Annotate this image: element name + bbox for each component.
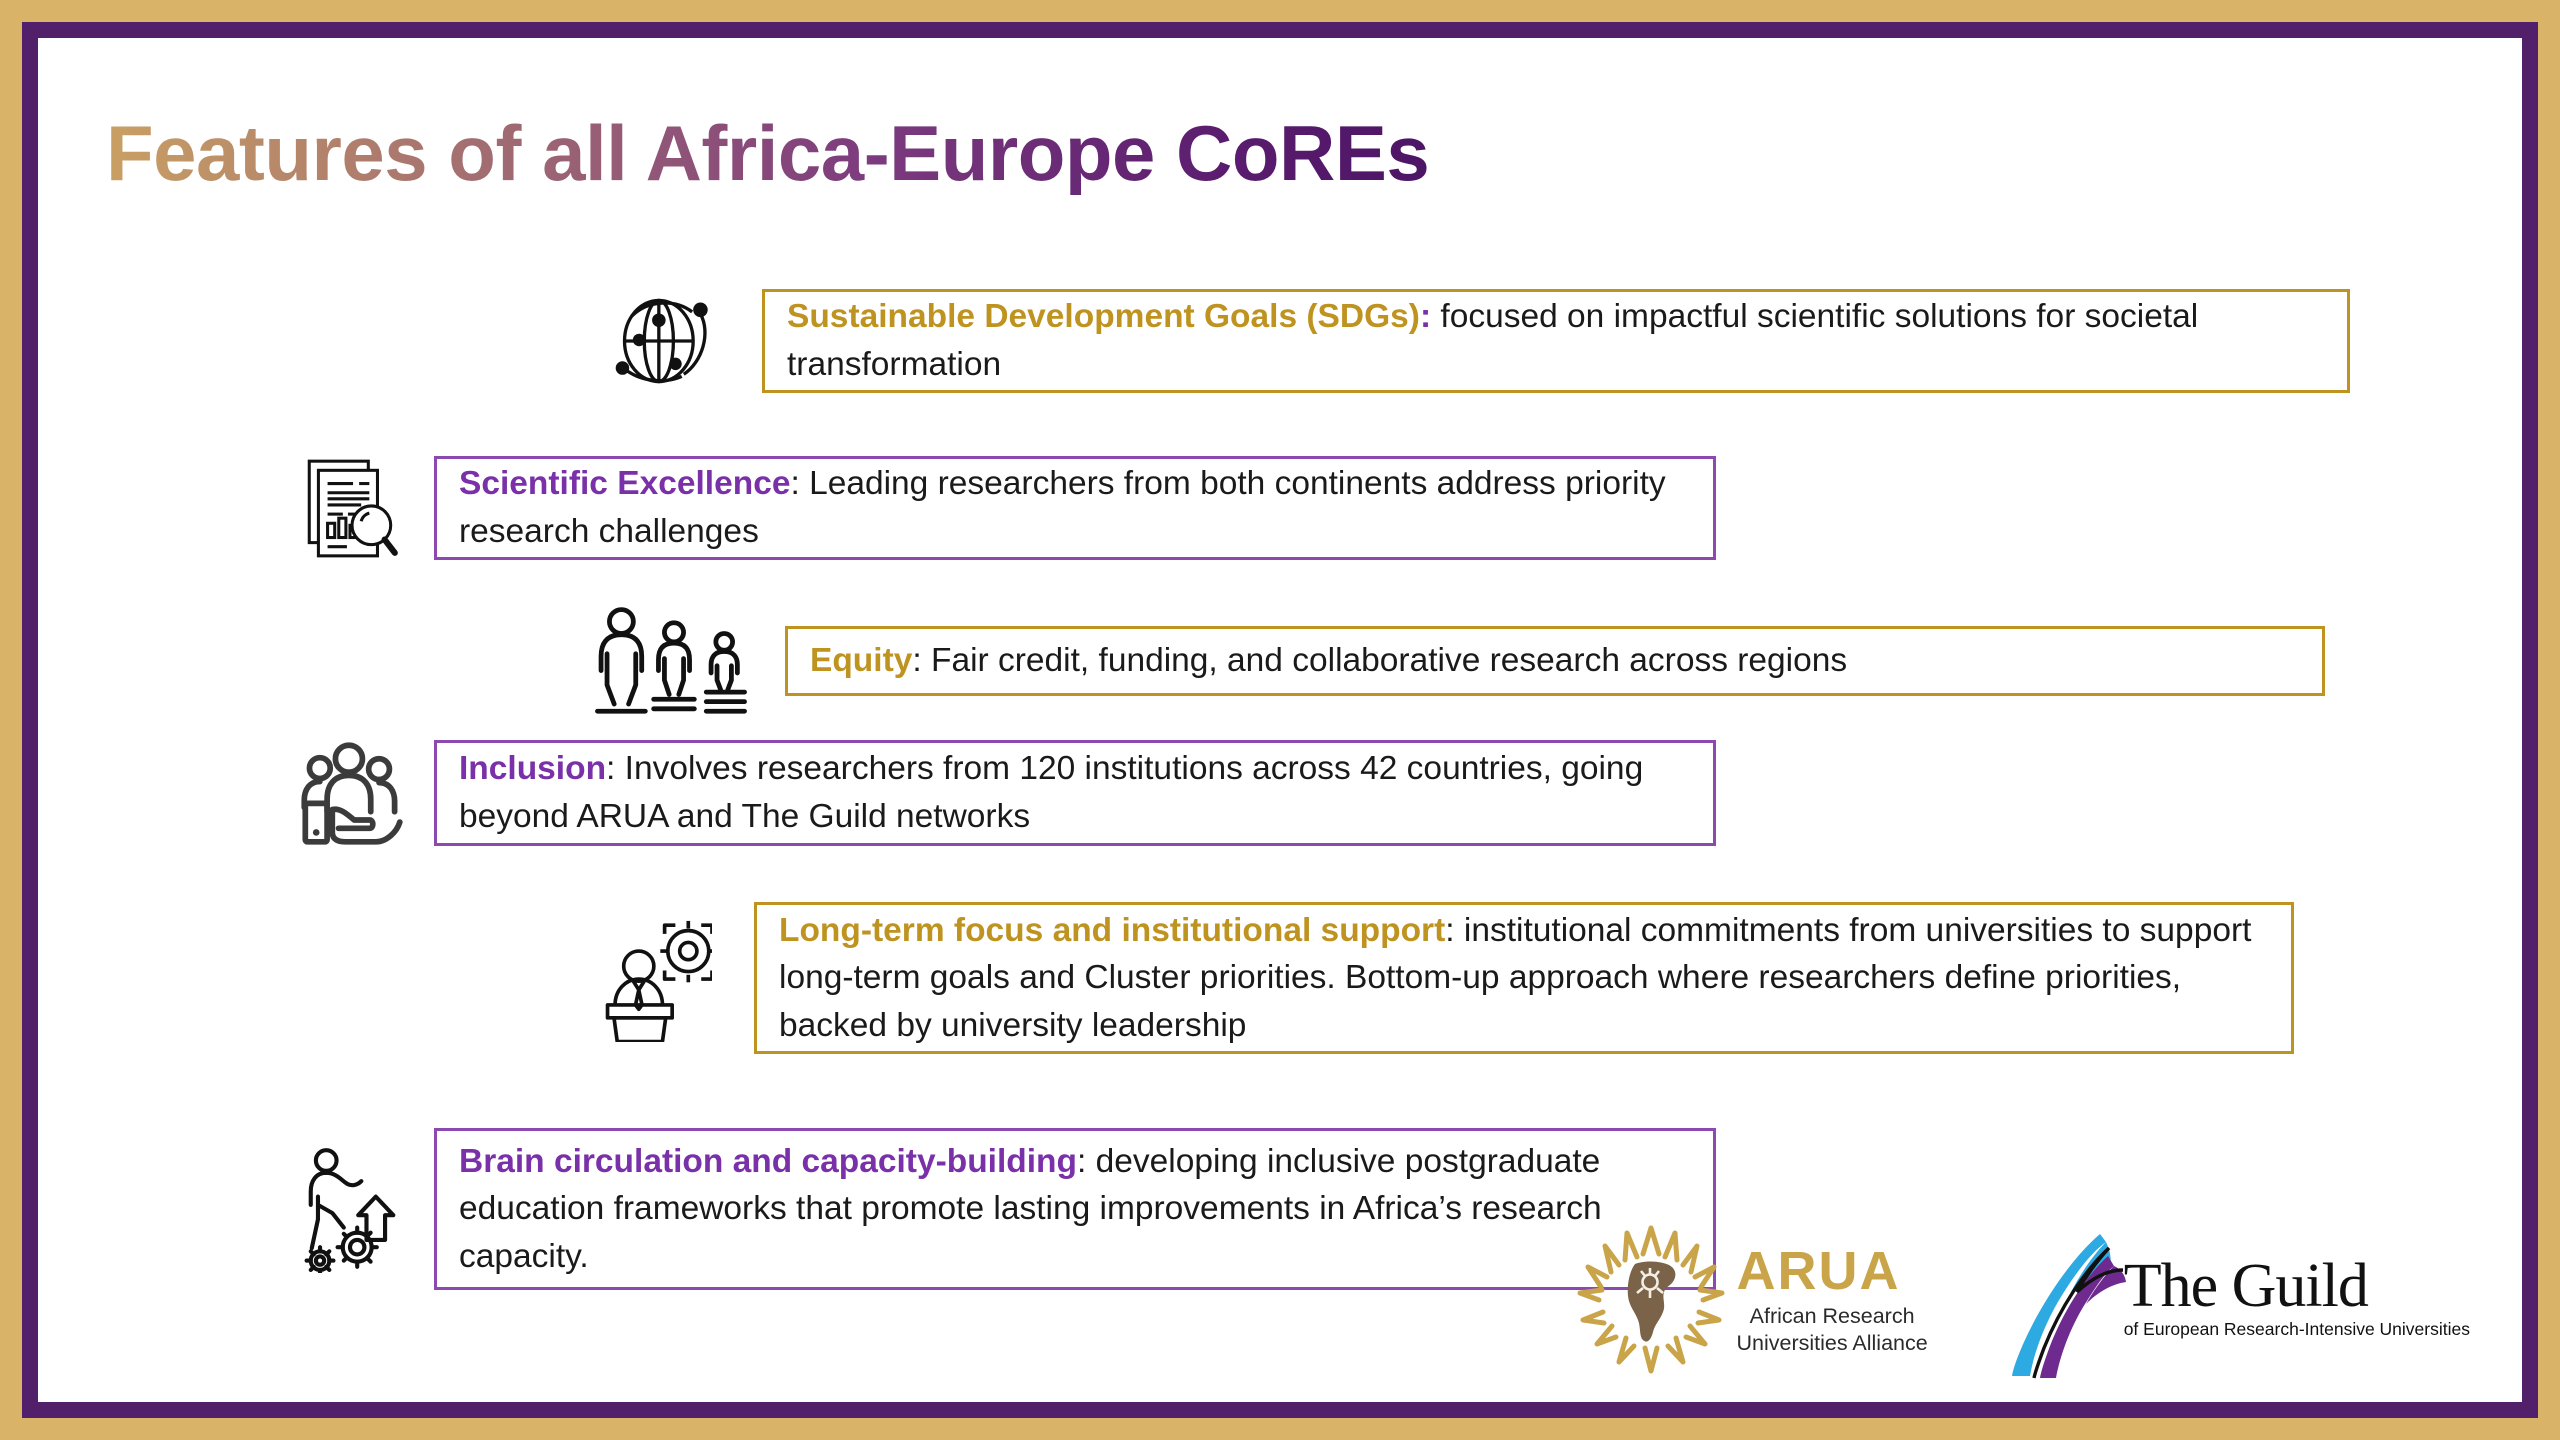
feature-row-long-term-focus: Long-term focus and institutional suppor… (586, 898, 2346, 1058)
feature-text-inclusion: Inclusion: Involves researchers from 120… (459, 745, 1691, 840)
feature-box-scientific-excellence: Scientific Excellence: Leading researche… (434, 456, 1716, 560)
slide-outer-frame: Features of all Africa-Europe CoREs (0, 0, 2560, 1440)
feature-box-brain-circulation: Brain circulation and capacity-building:… (434, 1128, 1716, 1290)
page-title: Features of all Africa-Europe CoREs (106, 113, 1429, 195)
feature-separator-brain-circulation: : (1077, 1143, 1086, 1180)
feature-row-inclusion: Inclusion: Involves researchers from 120… (286, 728, 1746, 858)
feature-lead-brain-circulation: Brain circulation and capacity-building (459, 1143, 1077, 1180)
feature-body-equity: Fair credit, funding, and collaborative … (922, 642, 1847, 679)
feature-lead-equity: Equity (810, 642, 912, 679)
feature-row-equity: Equity: Fair credit, funding, and collab… (586, 606, 2346, 716)
arua-name: ARUA (1737, 1244, 1928, 1298)
feature-text-long-term-focus: Long-term focus and institutional suppor… (779, 907, 2269, 1050)
globe-network-icon (598, 276, 728, 406)
feature-text-brain-circulation: Brain circulation and capacity-building:… (459, 1138, 1691, 1281)
feature-separator-equity: : (912, 642, 921, 679)
feature-separator-inclusion: : (606, 750, 615, 787)
document-magnifier-icon (286, 438, 416, 578)
feature-lead-sdgs: Sustainable Development Goals (SDGs) (787, 298, 1420, 335)
feature-text-sdgs: Sustainable Development Goals (SDGs): fo… (787, 293, 2325, 388)
feature-row-brain-circulation: Brain circulation and capacity-building:… (286, 1128, 1746, 1290)
logo-bar: ARUA African Research Universities Allia… (1571, 1220, 2471, 1380)
people-supporting-hand-icon (286, 728, 416, 858)
feature-row-scientific-excellence: Scientific Excellence: Leading researche… (286, 438, 1746, 578)
equity-figures-icon (586, 606, 761, 716)
feature-box-equity: Equity: Fair credit, funding, and collab… (785, 626, 2325, 696)
guild-swoosh-icon (1982, 1220, 2132, 1380)
feature-body-inclusion: Involves researchers from 120 institutio… (459, 750, 1643, 835)
guild-name: The Guild (2124, 1257, 2470, 1316)
guild-tagline: of European Research-Intensive Universit… (2124, 1320, 2470, 1339)
feature-lead-scientific-excellence: Scientific Excellence (459, 465, 790, 502)
feature-lead-inclusion: Inclusion (459, 750, 606, 787)
feature-box-sdgs: Sustainable Development Goals (SDGs): fo… (762, 289, 2350, 393)
arua-wordmark: ARUA African Research Universities Allia… (1737, 1244, 1928, 1355)
guild-logo: The Guild of European Research-Intensive… (1982, 1220, 2470, 1380)
slide-canvas: Features of all Africa-Europe CoREs (38, 38, 2522, 1402)
feature-text-scientific-excellence: Scientific Excellence: Leading researche… (459, 460, 1691, 555)
feature-box-long-term-focus: Long-term focus and institutional suppor… (754, 902, 2294, 1054)
podium-target-icon (586, 898, 726, 1058)
feature-row-sdgs: Sustainable Development Goals (SDGs): fo… (598, 276, 2348, 406)
feature-box-inclusion: Inclusion: Involves researchers from 120… (434, 740, 1716, 846)
feature-separator-sdgs: : (1420, 298, 1431, 335)
feature-text-equity: Equity: Fair credit, funding, and collab… (810, 637, 1847, 685)
africa-sunburst-icon (1571, 1220, 1731, 1380)
guild-wordmark: The Guild of European Research-Intensive… (2124, 1257, 2470, 1343)
arua-tagline-line1: African Research (1737, 1303, 1928, 1329)
feature-lead-long-term-focus: Long-term focus and institutional suppor… (779, 912, 1445, 949)
slide-inner-frame: Features of all Africa-Europe CoREs (22, 22, 2538, 1418)
arua-tagline-line2: Universities Alliance (1737, 1330, 1928, 1356)
feature-separator-long-term-focus: : (1445, 912, 1454, 949)
arua-logo: ARUA African Research Universities Allia… (1571, 1220, 1928, 1380)
person-gears-arrow-icon (286, 1129, 416, 1289)
feature-separator-scientific-excellence: : (790, 465, 799, 502)
